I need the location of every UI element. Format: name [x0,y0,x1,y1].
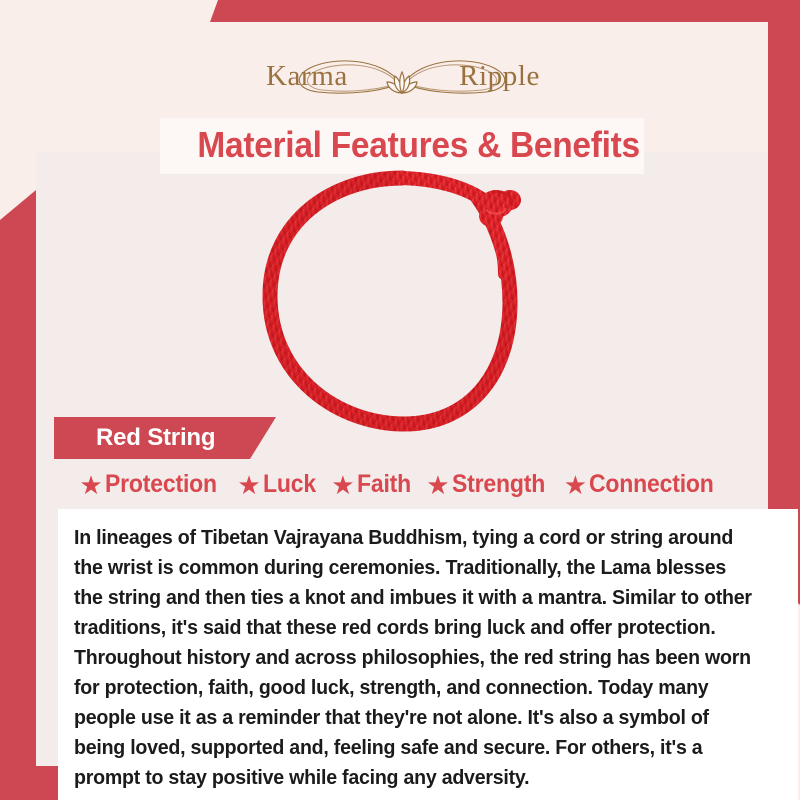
material-name: Red String [54,424,215,452]
logo-word-right: Ripple [459,62,540,91]
description-card: In lineages of Tibetan Vajrayana Buddhis… [58,509,798,800]
benefit-label: Connection [589,470,714,499]
benefit-item-faith: ★ Faith [331,470,415,499]
benefit-label: Protection [105,470,217,499]
frame-top-bar [210,0,800,22]
benefit-label: Strength [452,470,545,499]
material-ribbon: Red String [54,417,276,459]
benefit-label: Luck [263,470,316,499]
content-stage: Karma Ripple Material Features & Benefit… [36,22,768,766]
star-icon: ★ [331,472,354,498]
benefit-item-protection: ★ Protection [79,470,226,499]
benefits-row: ★ Protection ★ Luck ★ Faith ★ Strength ★… [36,470,768,499]
frame-left-bar [0,190,36,800]
lotus-icon [387,72,417,93]
logo-mark: Karma Ripple [242,52,562,114]
benefit-label: Faith [357,470,411,499]
benefit-item-strength: ★ Strength [426,470,552,499]
bracelet-knot [479,190,521,227]
product-image [36,172,768,432]
star-icon: ★ [426,472,449,498]
star-icon: ★ [79,472,102,498]
red-string-bracelet-icon [242,162,562,442]
description-text: In lineages of Tibetan Vajrayana Buddhis… [74,523,752,793]
brand-logo: Karma Ripple [36,52,768,114]
star-icon: ★ [237,472,260,498]
benefit-item-luck: ★ Luck [237,470,320,499]
infographic-page: Karma Ripple Material Features & Benefit… [0,0,800,800]
logo-word-left: Karma [266,62,348,91]
page-title: Material Features & Benefits [197,124,606,166]
benefit-item-connection: ★ Connection [564,470,725,499]
star-icon: ★ [564,472,587,498]
